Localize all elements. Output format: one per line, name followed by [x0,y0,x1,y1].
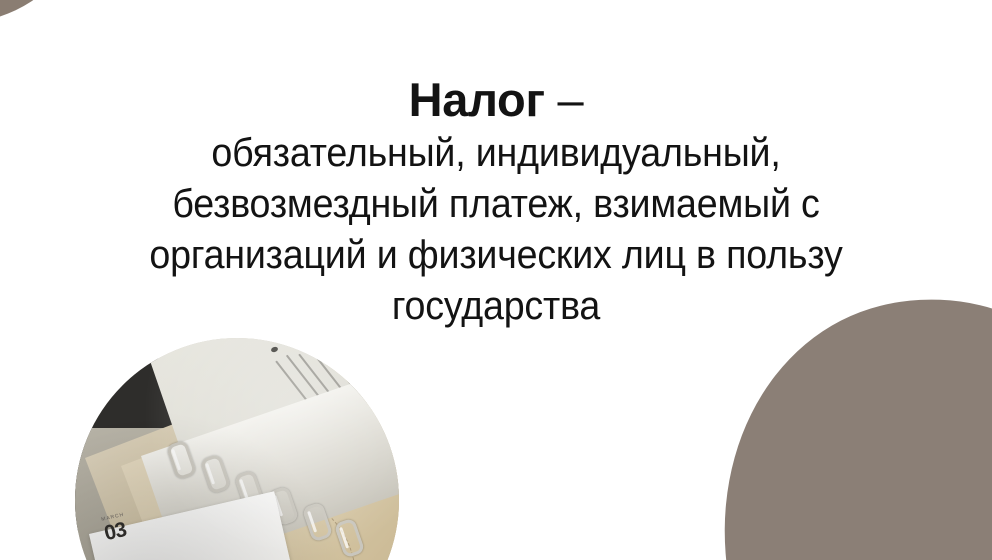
definition-line-1: обязательный, индивидуальный, [30,128,962,179]
dash-separator: – [545,73,584,126]
page-title: Налог – [0,72,992,128]
decorative-wedge-top-left [0,0,63,25]
photo-shading-overlay [75,338,399,560]
definition-line-3: организаций и физических лиц в пользу [30,230,962,281]
definition-text-block: Налог – обязательный, индивидуальный, бе… [0,72,992,332]
planner-photo: MARCH 03 [75,338,399,560]
presentation-slide: Налог – обязательный, индивидуальный, бе… [0,0,992,560]
definition-line-4: государства [30,281,962,332]
term-label: Налог [409,73,545,126]
definition-line-2: безвозмездный платеж, взимаемый с [30,179,962,230]
